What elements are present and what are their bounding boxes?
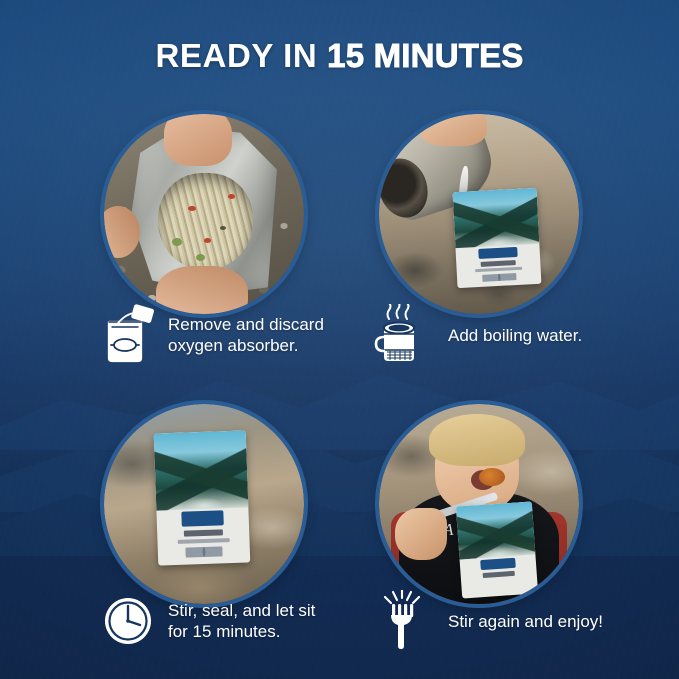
step-2-text: Add boiling water. xyxy=(430,325,582,346)
boy-arm xyxy=(395,508,447,560)
package-product-name xyxy=(184,529,223,537)
food-bit xyxy=(204,238,211,243)
step-3-text: Stir, seal, and let sit for 15 minutes. xyxy=(156,600,315,642)
dried-noodles-fill xyxy=(158,173,252,270)
food-bit xyxy=(172,238,182,246)
package-mountain-artwork xyxy=(456,501,536,560)
step-1-text: Remove and discard oxygen absorber. xyxy=(156,314,324,356)
package-nutrition-badges xyxy=(482,273,516,282)
package-brand-logo xyxy=(478,247,517,260)
step-3: Stir, seal, and let sit for 15 minutes. xyxy=(100,586,370,656)
package-mountain-artwork xyxy=(453,188,540,248)
meal-package-held xyxy=(456,501,538,598)
meal-package-lasagna xyxy=(154,430,251,565)
infographic-root: READY IN 15 MINUTES xyxy=(0,0,679,679)
photo-boy-eating: F LA xyxy=(379,404,579,604)
package-brand-logo xyxy=(480,558,516,571)
photo-sealed-pouch-on-rocks xyxy=(104,404,304,604)
clock-icon xyxy=(100,590,156,652)
food-bit xyxy=(196,254,205,261)
title-bold-part: 15 MINUTES xyxy=(327,37,523,74)
step-4-text: Stir again and enjoy! xyxy=(430,611,603,632)
fork-sparkle-icon xyxy=(374,590,430,652)
package-nutrition-badges xyxy=(185,546,222,558)
meal-package-green-curry xyxy=(453,188,542,288)
hand-holding-thermos xyxy=(419,114,487,146)
photo-hands-open-pouch xyxy=(104,114,304,314)
food-on-spoon xyxy=(479,468,505,486)
pouch-oxygen-absorber-icon xyxy=(100,304,156,366)
title-light-part: READY IN xyxy=(155,37,327,74)
page-title: READY IN 15 MINUTES xyxy=(0,38,679,74)
package-product-name xyxy=(481,260,516,267)
photo-pour-boiling-water xyxy=(379,114,579,314)
package-brand-logo xyxy=(181,510,224,526)
food-bit xyxy=(228,194,235,199)
steaming-mug-icon xyxy=(374,304,430,366)
step-1: Remove and discard oxygen absorber. xyxy=(100,300,370,370)
package-description xyxy=(178,538,230,544)
food-bit xyxy=(188,206,196,211)
package-mountain-artwork xyxy=(154,430,249,510)
package-description xyxy=(475,266,522,271)
step-4: Stir again and enjoy! xyxy=(374,586,644,656)
boy-hair xyxy=(429,414,525,466)
hand-top xyxy=(164,114,232,166)
package-product-name xyxy=(483,571,515,578)
step-2: Add boiling water. xyxy=(374,300,644,370)
food-bit xyxy=(220,226,226,230)
